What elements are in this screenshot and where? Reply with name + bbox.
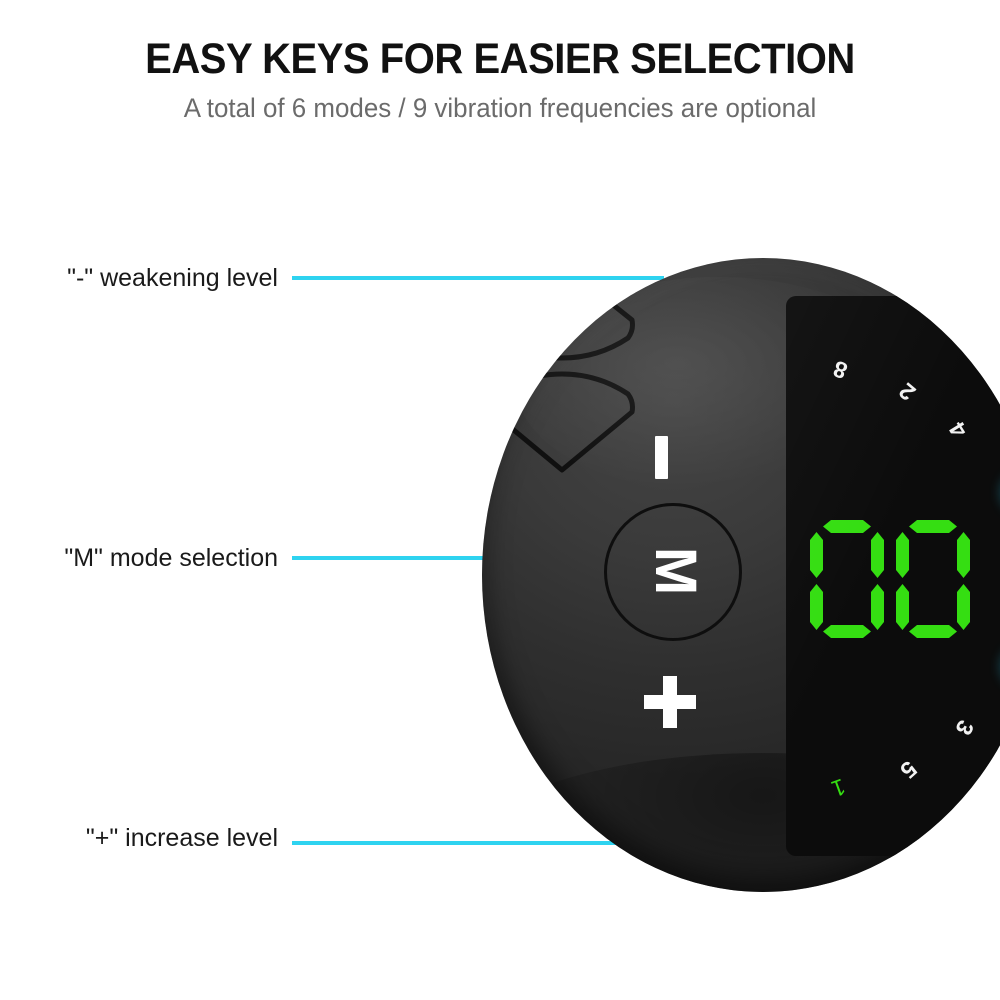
seven-segment-digit <box>810 520 884 638</box>
plus-button-outline <box>482 366 642 476</box>
segment-d <box>823 625 871 638</box>
arc-number-8: 8 <box>830 357 850 383</box>
callout-label-mode: "M" mode selection <box>0 543 278 573</box>
minus-button-outline <box>482 258 642 366</box>
segment-f <box>896 532 909 578</box>
page-subtitle: A total of 6 modes / 9 vibration frequen… <box>20 91 980 125</box>
segment-a <box>823 520 871 533</box>
segment-a <box>909 520 957 533</box>
arc-indicator-mark: 1 <box>828 775 848 801</box>
seven-segment-readout <box>810 520 970 638</box>
plus-button[interactable] <box>482 366 642 476</box>
leader-line-minus-horizontal <box>292 276 664 280</box>
segment-e <box>810 584 823 630</box>
segment-d <box>909 625 957 638</box>
header: EASY KEYS FOR EASIER SELECTION A total o… <box>0 34 1000 125</box>
segment-e <box>896 584 909 630</box>
display-panel: 8 2 4 3 5 1 <box>786 296 1000 856</box>
arc-number-2: 2 <box>895 379 920 405</box>
callout-label-plus: "+" increase level <box>0 823 278 853</box>
page-title: EASY KEYS FOR EASIER SELECTION <box>35 34 965 84</box>
plus-icon <box>644 676 696 728</box>
segment-c <box>871 584 884 630</box>
minus-icon <box>655 436 668 479</box>
segment-b <box>957 532 970 578</box>
arc-number-5: 5 <box>896 757 921 783</box>
callout-label-minus: "-" weakening level <box>0 263 278 293</box>
seven-segment-digit <box>896 520 970 638</box>
leader-line-plus-horizontal <box>292 841 664 845</box>
plus-icon-vertical-bar <box>663 676 677 728</box>
mode-letter-icon: M <box>640 536 710 606</box>
arc-number-3: 3 <box>951 716 977 738</box>
device-body: 8 2 4 3 5 1 <box>482 258 1000 892</box>
arc-number-4: 4 <box>945 418 971 441</box>
segment-f <box>810 532 823 578</box>
segment-b <box>871 532 884 578</box>
segment-c <box>957 584 970 630</box>
minus-button[interactable] <box>482 258 642 366</box>
